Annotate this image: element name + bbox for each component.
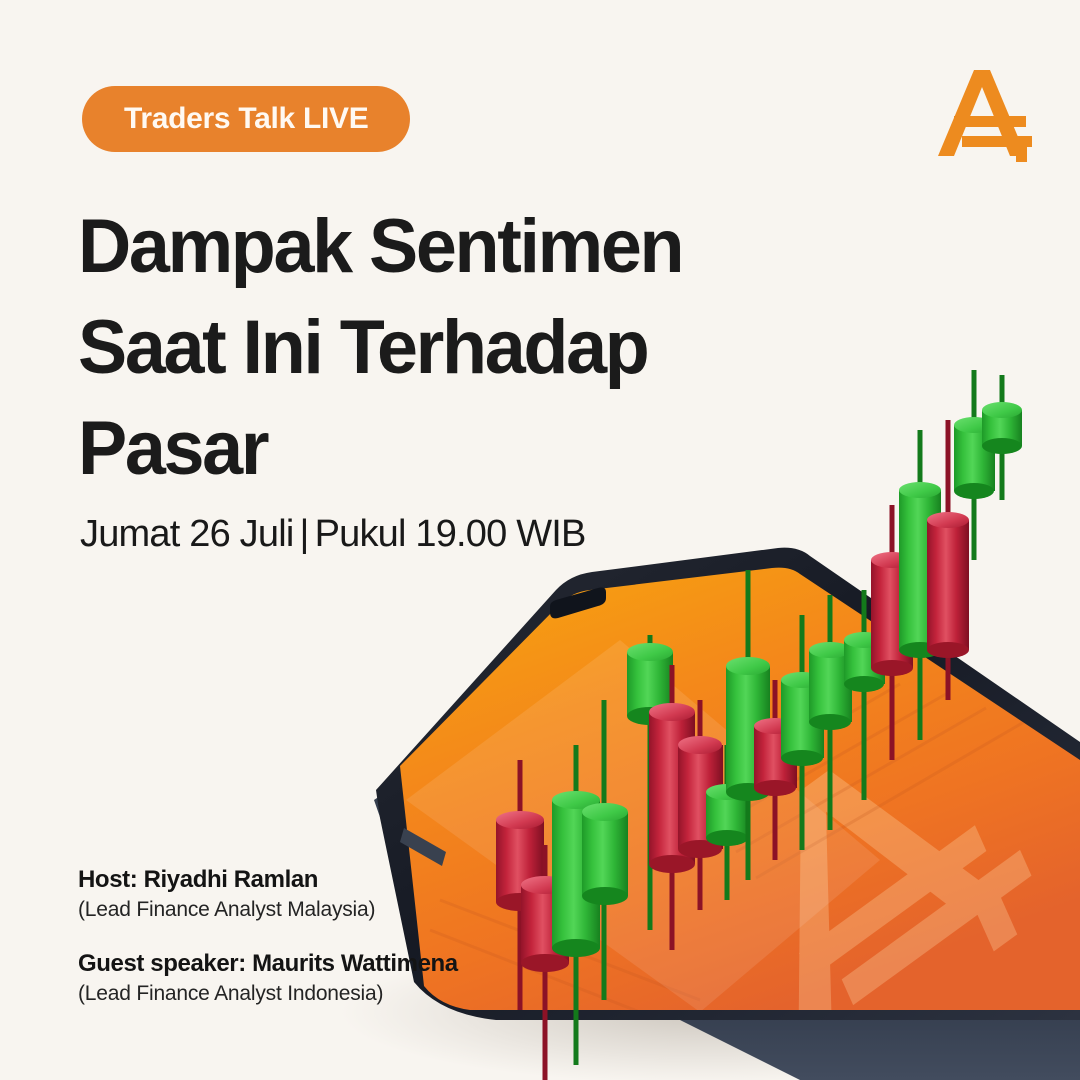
phone-notch — [550, 588, 606, 619]
candle-17 — [954, 370, 995, 560]
candle-2 — [521, 845, 569, 1080]
screen-grid-lines — [430, 684, 1024, 1020]
screen-watermark-logo — [717, 685, 1048, 1080]
candle-1 — [496, 760, 544, 1010]
screen-glare — [406, 640, 880, 1012]
guest-name: Guest speaker: Maurits Wattimena — [78, 950, 458, 978]
candle-14 — [871, 505, 913, 760]
host-credit: Host: Riyadhi Ramlan (Lead Finance Analy… — [78, 866, 458, 922]
schedule-line: Jumat 26 Juli|Pukul 19.00 WIB — [80, 513, 586, 556]
phone-side — [374, 780, 1080, 1080]
schedule-date: Jumat 26 Juli — [80, 513, 293, 555]
candle-5 — [627, 635, 673, 930]
candle-11 — [781, 615, 824, 850]
candle-8 — [706, 745, 749, 900]
phone-bezel — [376, 548, 1080, 1020]
candle-6 — [649, 665, 695, 950]
headline-line-3: Pasar — [78, 398, 776, 499]
candle-15 — [899, 430, 941, 740]
phone-screen — [400, 568, 1080, 1010]
page-title: Dampak Sentimen Saat Ini Terhadap Pasar — [78, 196, 798, 499]
host-name: Host: Riyadhi Ramlan — [78, 866, 458, 894]
guest-credit: Guest speaker: Maurits Wattimena (Lead F… — [78, 950, 458, 1006]
headline-line-2: Saat Ini Terhadap — [78, 297, 776, 398]
octa-a-logo-icon — [928, 60, 1036, 168]
schedule-separator: | — [293, 513, 314, 555]
candle-9 — [726, 570, 770, 880]
candle-12 — [809, 595, 852, 830]
guest-role: (Lead Finance Analyst Indonesia) — [78, 982, 458, 1006]
badge-label: Traders Talk LIVE — [124, 102, 368, 136]
traders-talk-live-badge[interactable]: Traders Talk LIVE — [82, 86, 410, 152]
candle-4 — [582, 700, 628, 1000]
candle-13 — [844, 590, 885, 800]
phone-side-button — [400, 828, 446, 866]
credits-block: Host: Riyadhi Ramlan (Lead Finance Analy… — [78, 866, 458, 1034]
candle-10 — [754, 680, 797, 860]
candle-16 — [927, 420, 969, 700]
candle-7 — [678, 700, 723, 910]
poster-canvas: Traders Talk LIVE Dampak Sentimen Saat I… — [0, 0, 1080, 1080]
schedule-time: Pukul 19.00 WIB — [315, 513, 586, 555]
host-role: (Lead Finance Analyst Malaysia) — [78, 898, 458, 922]
smartphone — [374, 548, 1080, 1080]
headline-line-1: Dampak Sentimen — [78, 196, 776, 297]
candle-18 — [982, 375, 1022, 500]
candle-3 — [552, 745, 600, 1065]
